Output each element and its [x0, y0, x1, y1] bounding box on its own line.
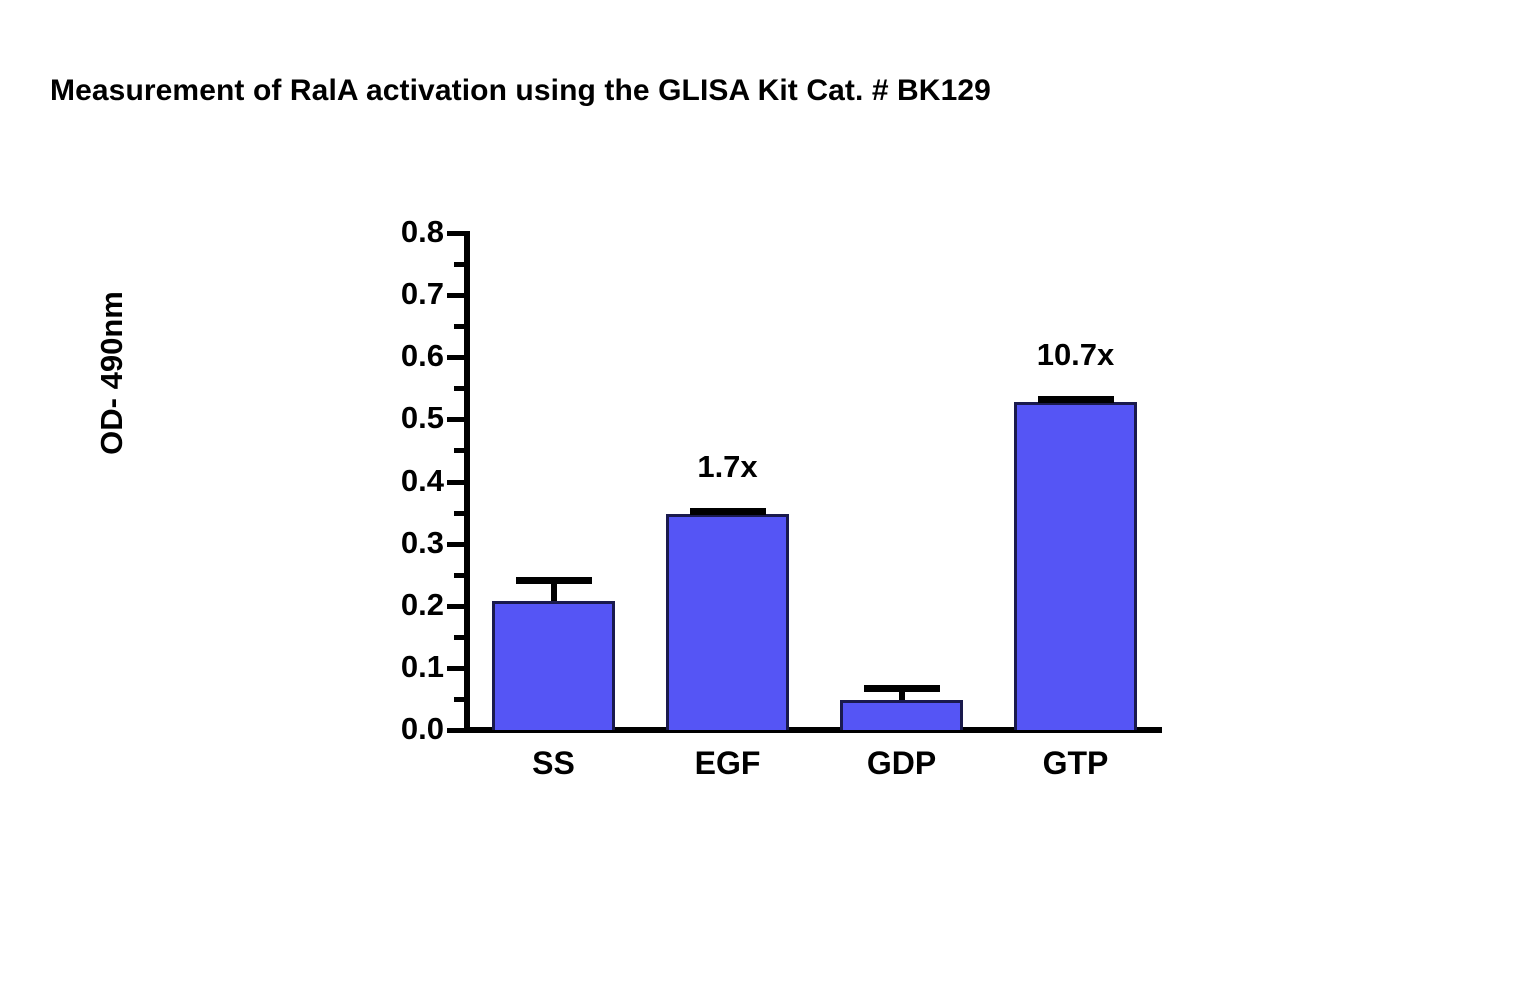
bar-ss	[492, 601, 615, 730]
y-tick-minor	[454, 262, 466, 267]
y-tick-major	[447, 355, 466, 360]
y-tick-label: 0.5	[344, 402, 444, 433]
bar-egf	[666, 514, 789, 730]
bar-gtp	[1014, 402, 1137, 730]
bar-annotation-egf: 1.7x	[638, 449, 818, 485]
y-tick-label: 0.3	[344, 527, 444, 558]
y-tick-major	[447, 542, 466, 547]
x-tick-label-gtp: GTP	[986, 745, 1166, 782]
y-tick-major	[447, 604, 466, 609]
error-bar-cap-gdp	[864, 685, 940, 692]
y-axis-title: OD- 490nm	[94, 223, 130, 523]
y-tick-minor	[454, 324, 466, 329]
x-tick-label-gdp: GDP	[812, 745, 992, 782]
chart-figure: Measurement of RalA activation using the…	[0, 0, 1524, 1000]
y-tick-minor	[454, 386, 466, 391]
y-tick-label: 0.0	[344, 713, 444, 744]
y-tick-label: 0.6	[344, 340, 444, 371]
plot-area: OD- 490nm 0.00.10.20.30.40.50.60.70.8 1.…	[0, 0, 1524, 1000]
y-tick-label: 0.1	[344, 651, 444, 682]
error-bar-cap-ss	[516, 577, 592, 584]
y-tick-label: 0.4	[344, 465, 444, 496]
y-tick-major	[447, 480, 466, 485]
y-tick-minor	[454, 697, 466, 702]
y-tick-major	[447, 293, 466, 298]
y-tick-major	[447, 728, 466, 733]
x-tick-label-ss: SS	[464, 745, 644, 782]
y-tick-minor	[454, 448, 466, 453]
x-tick-label-egf: EGF	[638, 745, 818, 782]
error-bar-cap-egf	[690, 508, 766, 515]
y-tick-label: 0.8	[344, 216, 444, 247]
bar-annotation-gtp: 10.7x	[986, 337, 1166, 373]
y-tick-minor	[454, 573, 466, 578]
error-bar-cap-gtp	[1038, 396, 1114, 403]
y-tick-label: 0.7	[344, 278, 444, 309]
y-tick-major	[447, 417, 466, 422]
y-tick-minor	[454, 511, 466, 516]
y-tick-minor	[454, 635, 466, 640]
y-tick-major	[447, 666, 466, 671]
y-tick-label: 0.2	[344, 589, 444, 620]
bar-gdp	[840, 700, 963, 730]
y-tick-major	[447, 231, 466, 236]
